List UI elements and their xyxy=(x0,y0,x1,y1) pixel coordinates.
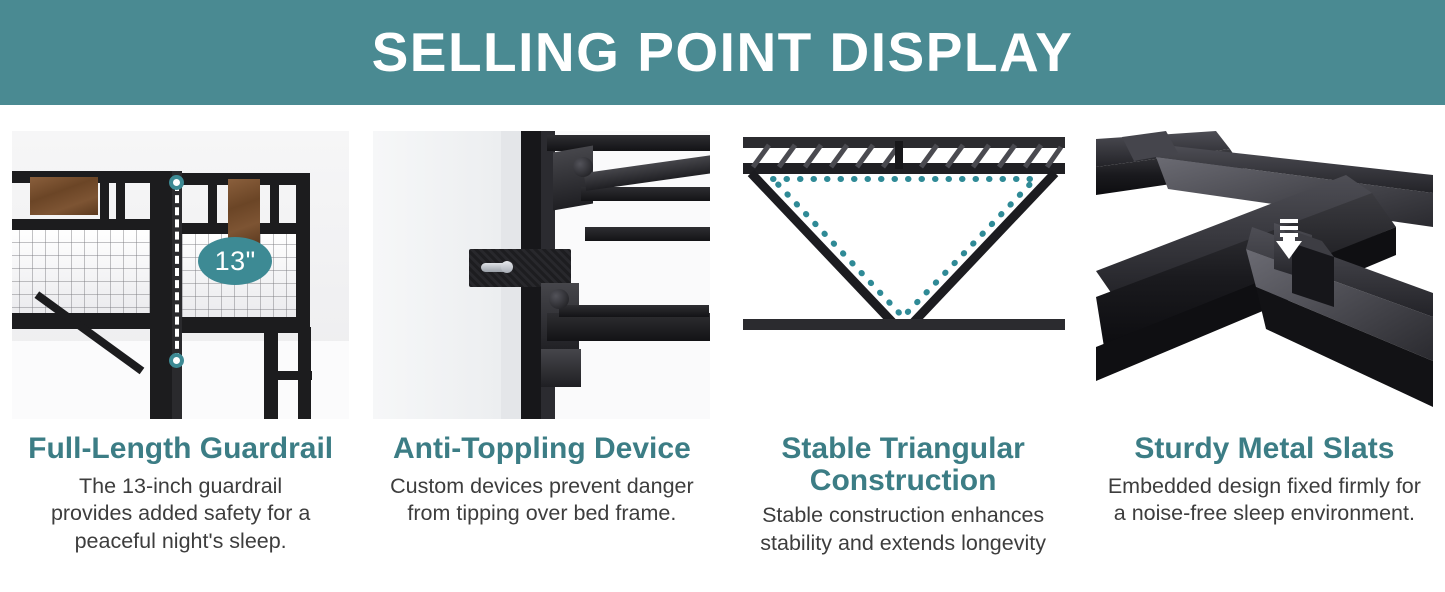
slat-joint-svg xyxy=(1096,131,1433,419)
panel-body: The 13-inch guardrail provides added saf… xyxy=(41,473,321,556)
metal-slat-joint-photo xyxy=(1096,131,1433,419)
caption-block: Stable Triangular Construction Stable co… xyxy=(723,419,1084,557)
bottom-rail xyxy=(743,319,1065,330)
triangular-brace-diagram xyxy=(735,131,1072,419)
feature-panel-stable-triangular-construction: Stable Triangular Construction Stable co… xyxy=(723,105,1084,592)
feature-panel-full-length-guardrail: 13" Full-Length Guardrail The 13-inch gu… xyxy=(0,105,361,592)
far-corner-post xyxy=(296,173,310,333)
second-rail xyxy=(743,163,1065,174)
panel-body: Stable construction enhances stability a… xyxy=(753,502,1053,557)
panel-body: Custom devices prevent danger from tippi… xyxy=(387,473,697,528)
lower-cross-rail xyxy=(547,313,710,341)
upper-cross-rail xyxy=(581,187,710,201)
feature-panel-anti-toppling-device: Anti-Toppling Device Custom devices prev… xyxy=(361,105,722,592)
caption-block: Anti-Toppling Device Custom devices prev… xyxy=(361,419,722,528)
guardrail-post-b xyxy=(116,173,125,221)
header-band: SELLING POINT DISPLAY xyxy=(0,0,1445,105)
guardrail-mid-left xyxy=(12,219,156,230)
guardrail-post-c xyxy=(208,177,217,225)
selling-point-display-page: SELLING POINT DISPLAY xyxy=(0,0,1445,592)
center-divider xyxy=(895,141,903,169)
wood-panel-right xyxy=(228,179,260,245)
ladder-rung-lower xyxy=(264,371,312,380)
caption-block: Sturdy Metal Slats Embedded design fixed… xyxy=(1084,419,1445,528)
feature-panels: 13" Full-Length Guardrail The 13-inch gu… xyxy=(0,105,1445,592)
bed-leg-front xyxy=(154,331,172,419)
measurement-badge: 13" xyxy=(198,237,272,285)
caption-block: Full-Length Guardrail The 13-inch guardr… xyxy=(0,419,361,555)
feature-panel-sturdy-metal-slats: Sturdy Metal Slats Embedded design fixed… xyxy=(1084,105,1445,592)
anti-toppling-strap-photo xyxy=(373,131,710,419)
panel-title: Anti-Toppling Device xyxy=(369,433,714,465)
panel-title: Full-Length Guardrail xyxy=(8,433,353,465)
mid-rail xyxy=(585,227,710,241)
lower-bracket-b xyxy=(541,349,581,387)
bunk-bed-guardrail-photo: 13" xyxy=(12,131,349,419)
brace-diagram-svg xyxy=(735,131,1072,419)
guardrail-post-d xyxy=(270,179,279,225)
guardrail-post-a xyxy=(100,173,109,221)
mattress-left xyxy=(12,229,156,321)
panel-title: Stable Triangular Construction xyxy=(778,433,1028,496)
measure-dashed-line xyxy=(175,183,179,361)
lower-rail-top-edge xyxy=(559,305,709,317)
page-title: SELLING POINT DISPLAY xyxy=(372,25,1074,80)
panel-body: Embedded design fixed firmly for a noise… xyxy=(1099,473,1429,528)
panel-title: Sturdy Metal Slats xyxy=(1092,433,1437,465)
frame-rail-right-bottom xyxy=(182,317,310,333)
wood-panel-left xyxy=(30,177,98,215)
